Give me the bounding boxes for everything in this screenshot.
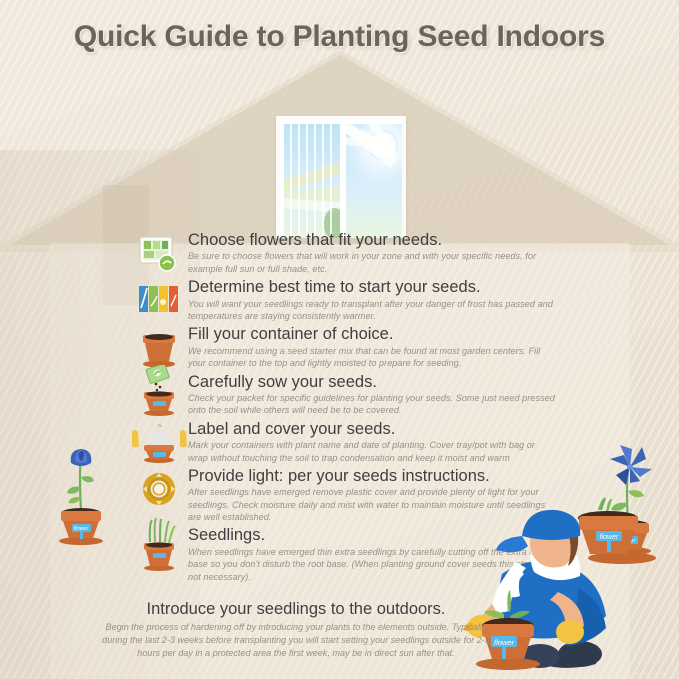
step-body: Mark your containers with plant name and… (188, 439, 556, 464)
step-body: Be sure to choose flowers that will work… (188, 250, 556, 275)
list-item: Determine best time to start your seeds.… (136, 278, 556, 322)
list-item: Label and cover your seeds. Mark your co… (136, 420, 556, 464)
footer-section: Introduce your seedlings to the outdoors… (96, 600, 496, 661)
infographic-poster: Quick Guide to Planting Seed Indoors Cho… (0, 0, 679, 679)
empty-pot-icon (136, 327, 182, 369)
step-heading: Label and cover your seeds. (188, 420, 556, 438)
svg-text:flower: flower (74, 526, 90, 532)
step-heading: Carefully sow your seeds. (188, 373, 556, 391)
window-pane-right (346, 124, 402, 238)
sunlit-window (276, 116, 406, 238)
background-pot: flower (578, 498, 656, 564)
step-heading: Fill your container of choice. (188, 325, 556, 343)
sun-light-icon (136, 469, 182, 511)
footer-heading: Introduce your seedlings to the outdoors… (96, 600, 496, 619)
step-body: You will want your seedlings ready to tr… (188, 298, 556, 323)
svg-text:flower: flower (494, 638, 515, 647)
seedlings-pot-icon (136, 516, 182, 572)
list-item: Carefully sow your seeds. Check your pac… (136, 373, 556, 417)
svg-text:flower: flower (600, 534, 619, 541)
footer-body: Begin the process of hardening off by in… (96, 621, 496, 661)
step-body: We recommend using a seed starter mix th… (188, 345, 556, 370)
step-heading: Determine best time to start your seeds. (188, 278, 556, 296)
step-heading: Provide light: per your seeds instructio… (188, 467, 556, 485)
sowing-seeds-icon (136, 365, 182, 417)
left-flower-pot: flower (46, 415, 116, 545)
list-item: Fill your container of choice. We recomm… (136, 325, 556, 369)
step-body: Check your packet for specific guideline… (188, 392, 556, 417)
window-pane-left (284, 124, 340, 238)
seed-packets-icon (136, 280, 182, 322)
seed-catalog-icon (136, 233, 182, 275)
page-title: Quick Guide to Planting Seed Indoors (0, 20, 679, 54)
step-heading: Choose flowers that fit your needs. (188, 231, 556, 249)
list-item: Choose flowers that fit your needs. Be s… (136, 231, 556, 275)
gloves-covered-pot-icon (130, 422, 188, 464)
sun-icon (368, 130, 398, 160)
